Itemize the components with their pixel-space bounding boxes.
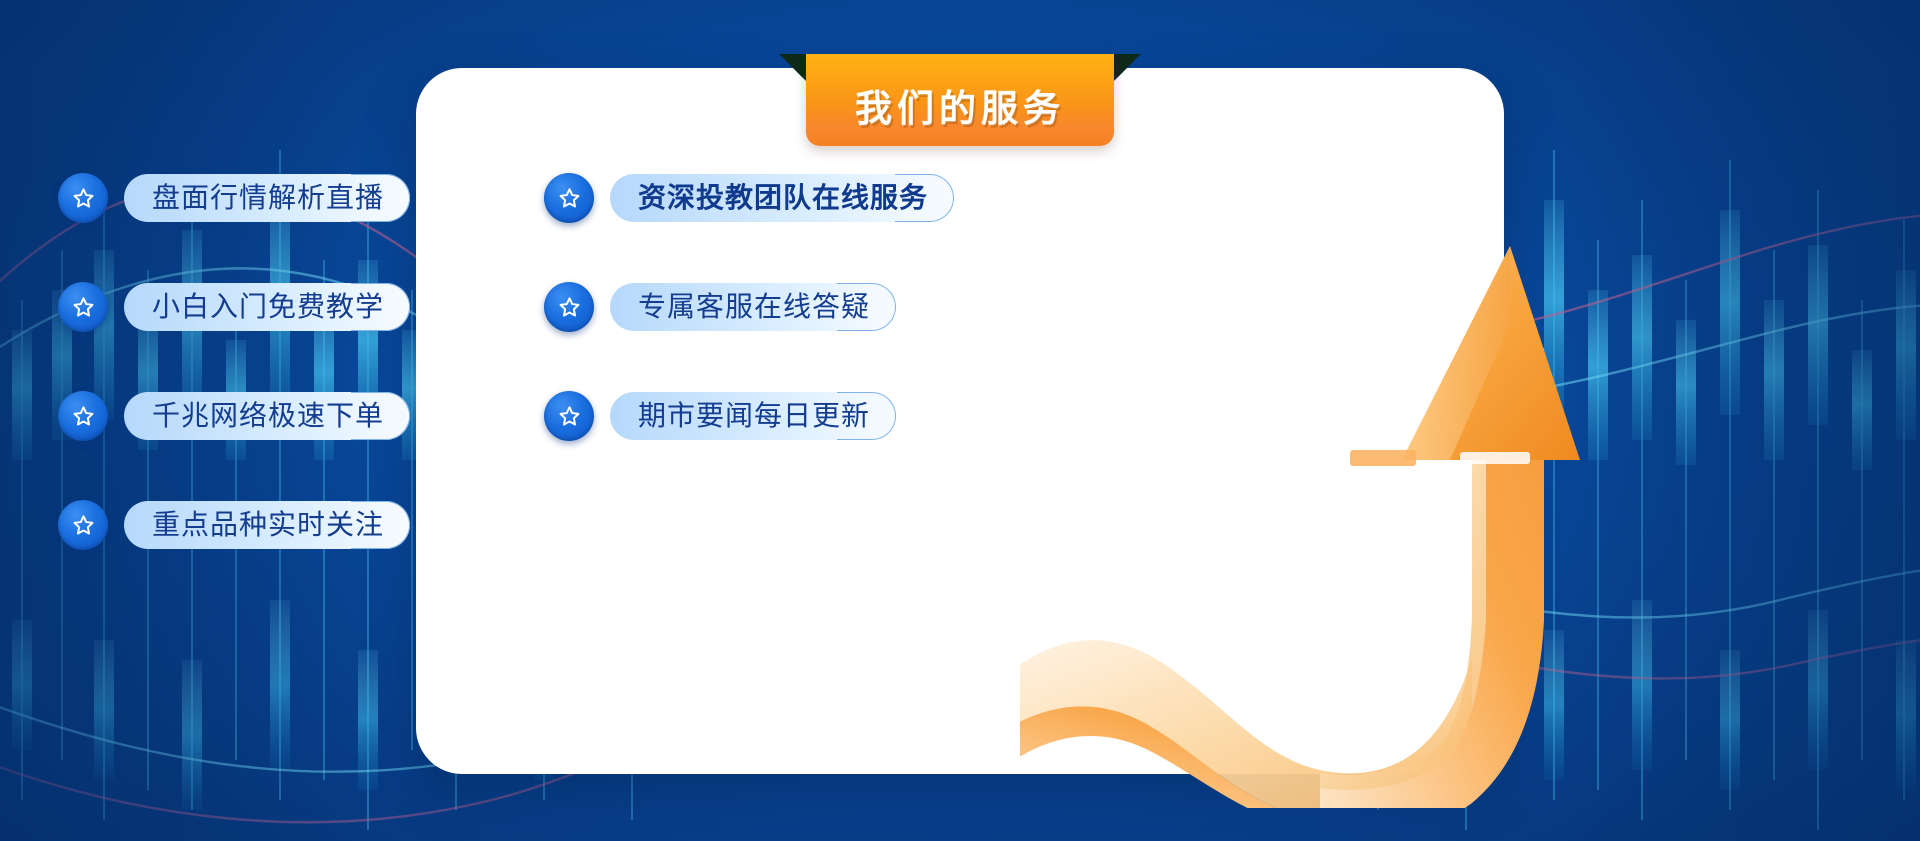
service-pill[interactable]: 小白入门免费教学	[124, 283, 410, 331]
service-pill[interactable]: 资深投教团队在线服务	[610, 174, 954, 222]
service-pill[interactable]: 重点品种实时关注	[124, 501, 410, 549]
services-column-right: 资深投教团队在线服务 专属客服在线答疑 期市要闻每日更新	[544, 166, 1030, 557]
star-icon	[544, 282, 594, 332]
service-item[interactable]: 盘面行情解析直播	[58, 166, 544, 230]
service-item[interactable]: 千兆网络极速下单	[58, 384, 544, 448]
star-icon	[544, 173, 594, 223]
service-item[interactable]: 重点品种实时关注	[58, 493, 544, 557]
service-label: 专属客服在线答疑	[638, 293, 870, 321]
service-item[interactable]: 小白入门免费教学	[58, 275, 544, 339]
star-icon	[58, 282, 108, 332]
service-pill[interactable]: 专属客服在线答疑	[610, 283, 896, 331]
page-title: 我们的服务	[855, 68, 1065, 132]
services-column-left: 盘面行情解析直播 小白入门免费教学 千兆网络极速下单	[58, 166, 544, 557]
service-item[interactable]: 专属客服在线答疑	[544, 275, 1030, 339]
service-label: 资深投教团队在线服务	[638, 184, 928, 212]
ribbon-body: 我们的服务	[806, 54, 1114, 146]
service-pill[interactable]: 期市要闻每日更新	[610, 392, 896, 440]
service-label: 重点品种实时关注	[152, 511, 384, 539]
services-list: 盘面行情解析直播 小白入门免费教学 千兆网络极速下单	[58, 166, 1030, 557]
service-label: 期市要闻每日更新	[638, 402, 870, 430]
star-icon	[58, 391, 108, 441]
service-item[interactable]: 期市要闻每日更新	[544, 384, 1030, 448]
service-item[interactable]: 资深投教团队在线服务	[544, 166, 1030, 230]
services-title-ribbon: 我们的服务	[780, 54, 1140, 156]
star-icon	[58, 173, 108, 223]
service-pill[interactable]: 千兆网络极速下单	[124, 392, 410, 440]
service-pill[interactable]: 盘面行情解析直播	[124, 174, 410, 222]
service-label: 盘面行情解析直播	[152, 184, 384, 212]
service-label: 小白入门免费教学	[152, 293, 384, 321]
star-icon	[58, 500, 108, 550]
star-icon	[544, 391, 594, 441]
service-label: 千兆网络极速下单	[152, 402, 384, 430]
